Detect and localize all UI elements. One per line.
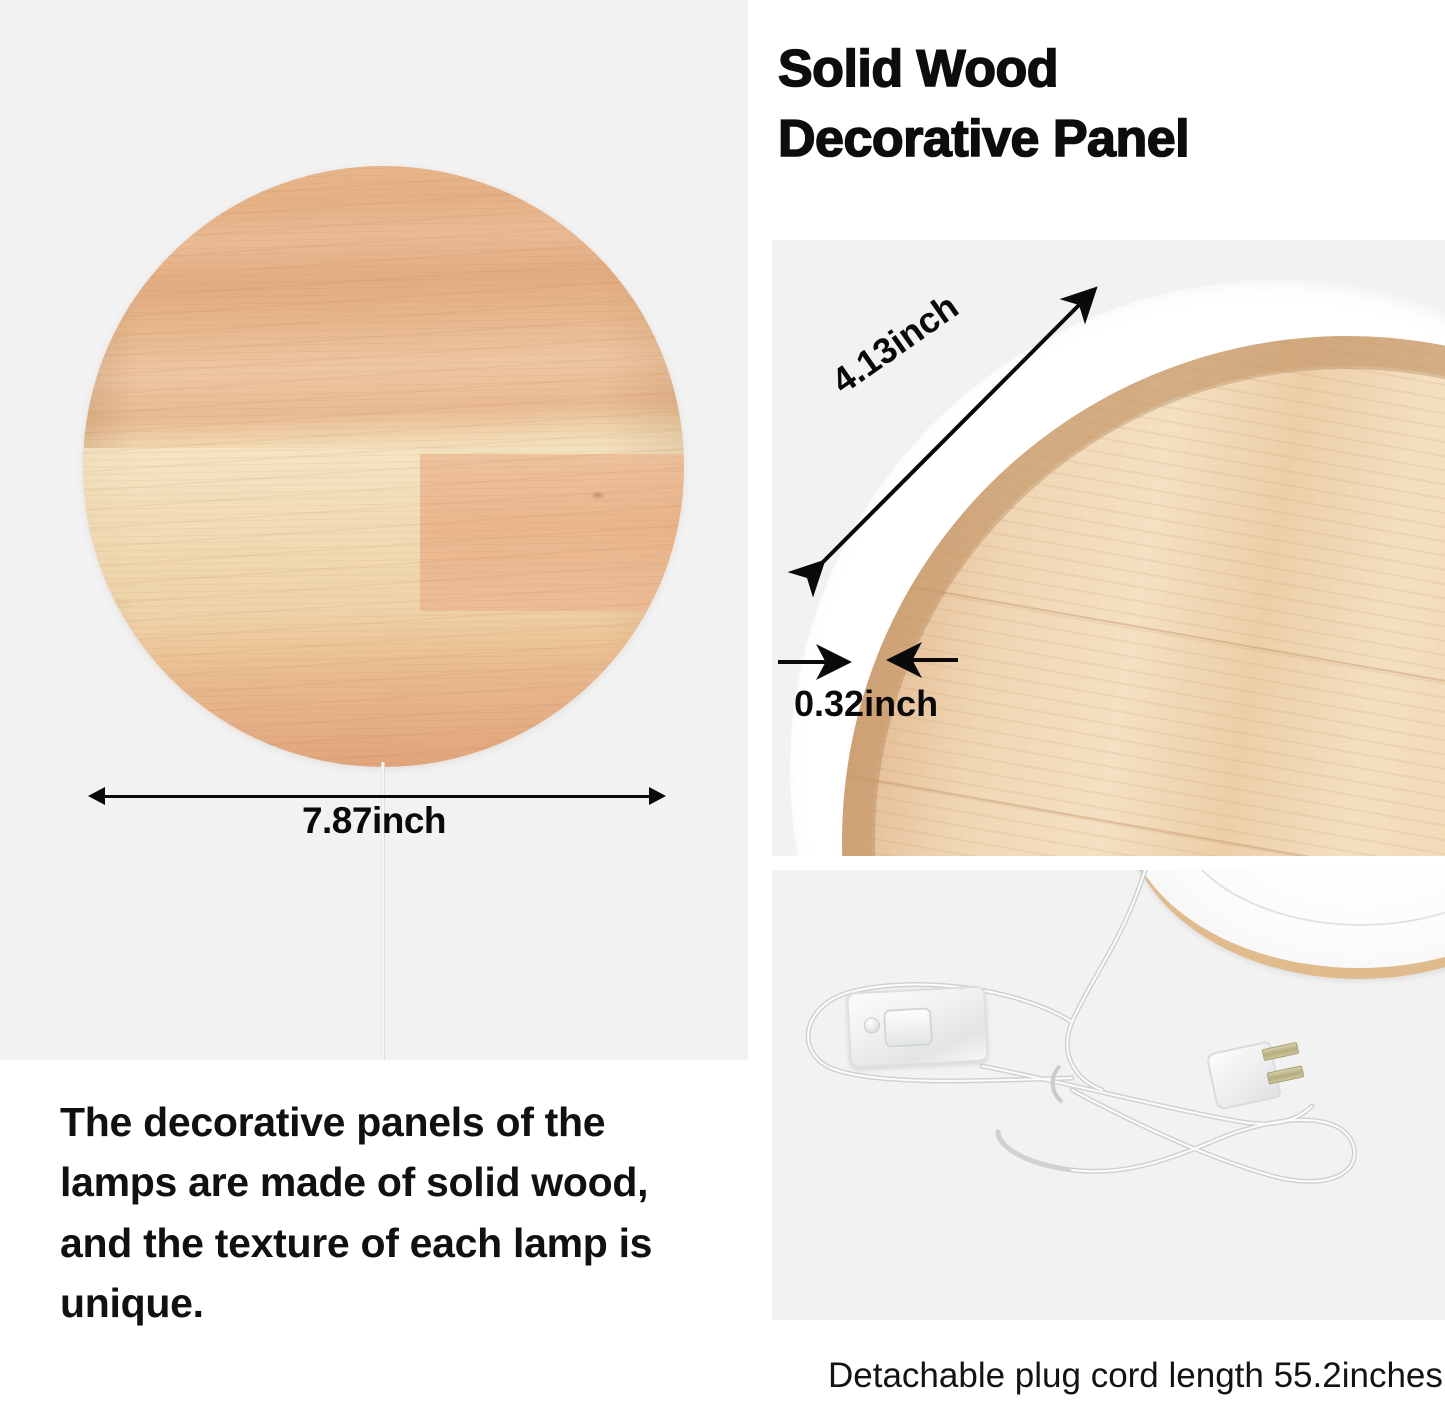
diagonal-dimension-label: 4.13inch xyxy=(824,285,966,402)
power-cord-image xyxy=(772,870,1445,1320)
thickness-dimension-label: 0.32inch xyxy=(794,683,938,725)
switch-indicator xyxy=(863,1017,880,1034)
width-dimension-label: 7.87inch xyxy=(0,800,748,842)
inline-rocker-switch xyxy=(846,985,989,1068)
dimension-line xyxy=(102,795,652,798)
wood-edge-closeup-image: 4.13inch 0.32inch xyxy=(772,240,1445,856)
round-wood-panel-image: 7.87inch xyxy=(0,0,748,1060)
page-title-line1: Solid Wood xyxy=(778,40,1058,98)
page-title: Solid Wood Decorative Panel xyxy=(778,34,1438,174)
left-caption-text: The decorative panels of the lamps are m… xyxy=(60,1092,720,1333)
page-title-line2: Decorative Panel xyxy=(778,104,1438,174)
wood-disc-photo xyxy=(83,166,684,767)
right-caption-text: Detachable plug cord length 55.2inches xyxy=(828,1352,1443,1400)
switch-rocker xyxy=(883,1007,933,1047)
wood-grain-texture-coarse xyxy=(83,166,684,767)
transparent-cord-illustration xyxy=(772,870,1445,1320)
wood-knot xyxy=(590,491,606,500)
